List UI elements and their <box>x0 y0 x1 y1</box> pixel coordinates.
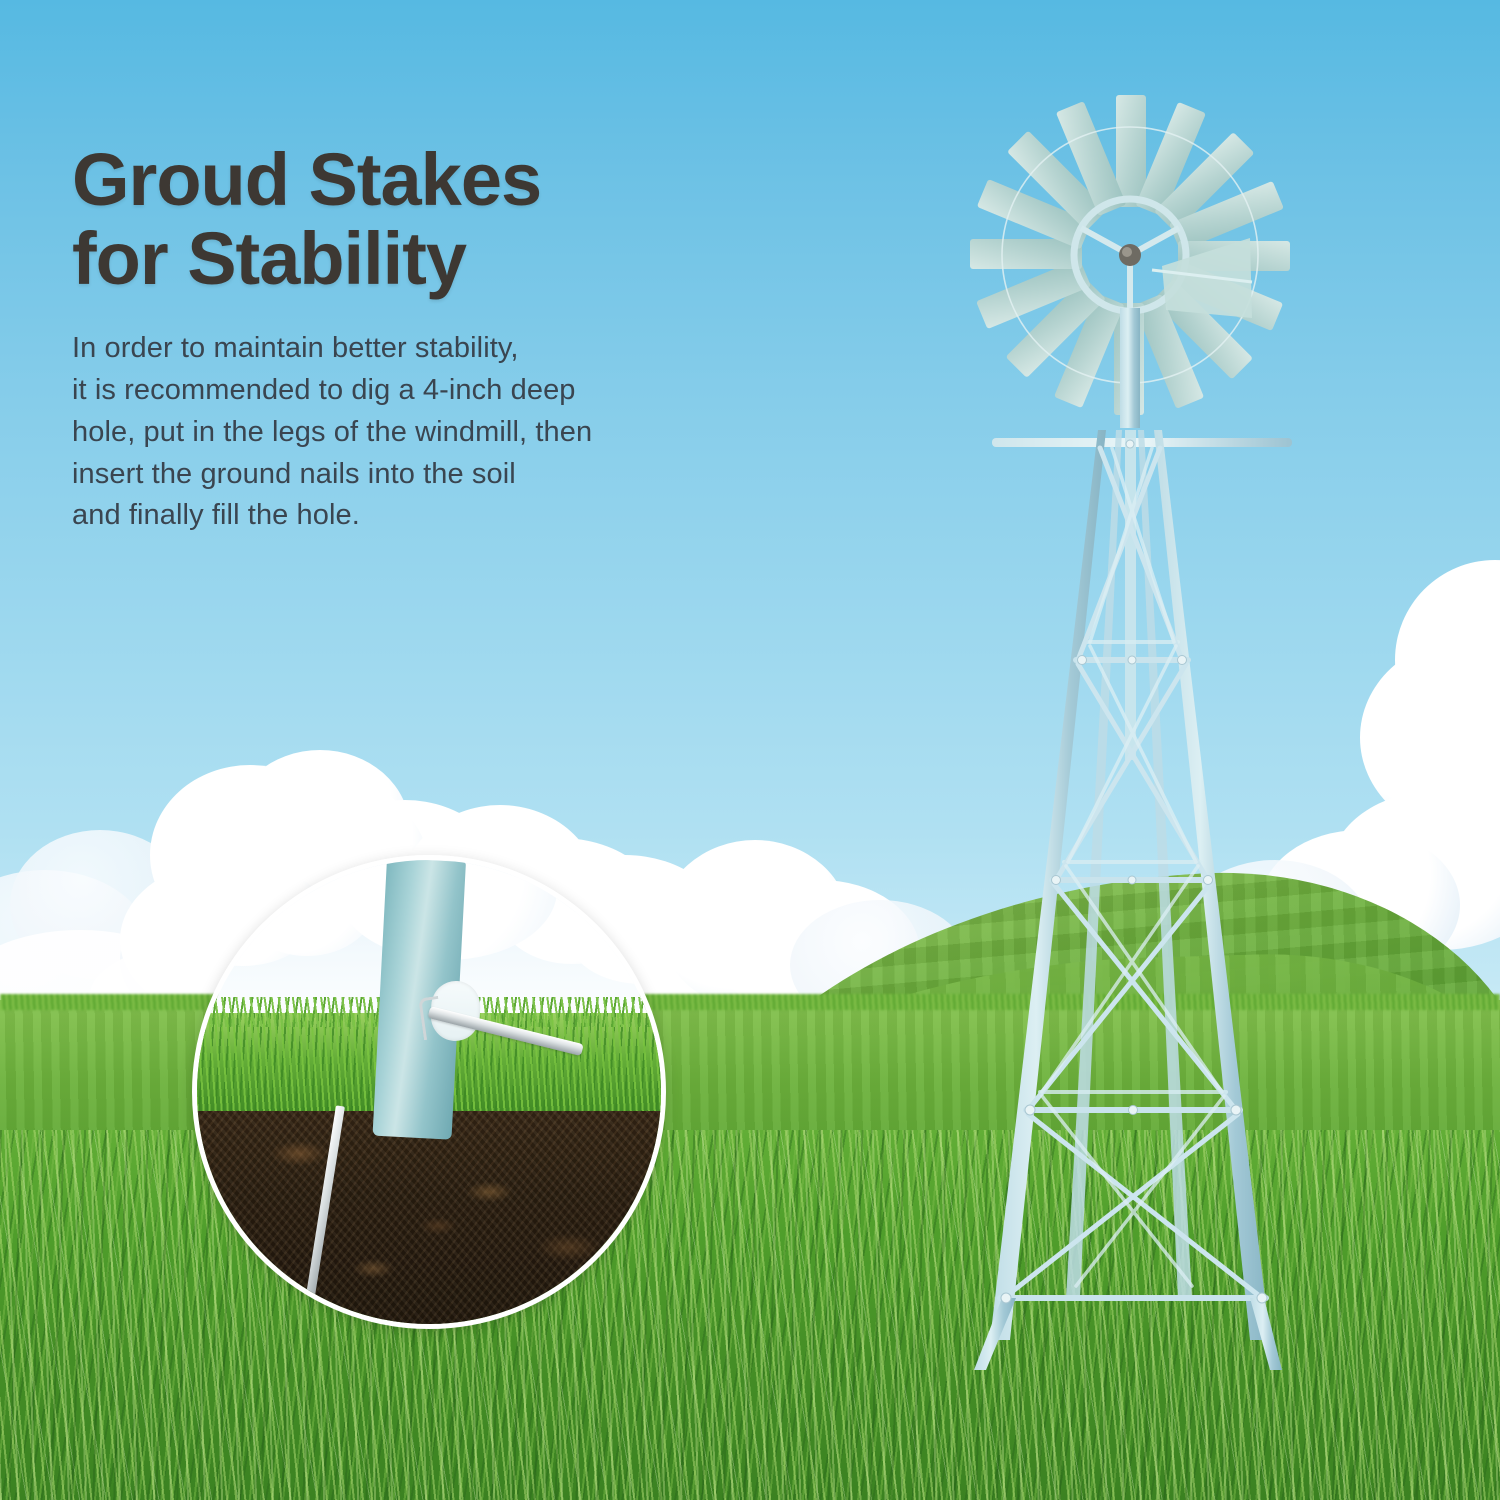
description-line-1: In order to maintain better stability, <box>72 328 812 370</box>
text-block: Groud Stakes for Stability In order to m… <box>72 140 812 537</box>
product-marketing-scene: Groud Stakes for Stability In order to m… <box>0 0 1500 1500</box>
tower-mast <box>1120 308 1140 428</box>
inset-soil-layer <box>197 1111 661 1324</box>
description-line-5: and finally fill the hole. <box>72 495 812 537</box>
description-line-2: it is recommended to dig a 4-inch deep <box>72 370 812 412</box>
headline-line-2: for Stability <box>72 219 812 298</box>
tower-leg-front-left <box>990 430 1106 1340</box>
windmill-illustration <box>930 70 1350 1370</box>
description-text: In order to maintain better stability, i… <box>72 328 812 537</box>
ground-stake-detail-inset <box>192 855 666 1329</box>
description-line-4: insert the ground nails into the soil <box>72 454 812 496</box>
garden-windmill <box>930 70 1350 1370</box>
headline-line-1: Groud Stakes <box>72 138 541 221</box>
description-line-3: hole, put in the legs of the windmill, t… <box>72 412 812 454</box>
page-title: Groud Stakes for Stability <box>72 140 812 298</box>
rotor-center-bolt-highlight <box>1122 247 1132 257</box>
windmill-tower <box>974 308 1292 1370</box>
tower-center-column <box>1125 430 1136 760</box>
tower-base-legs <box>974 1298 1282 1370</box>
